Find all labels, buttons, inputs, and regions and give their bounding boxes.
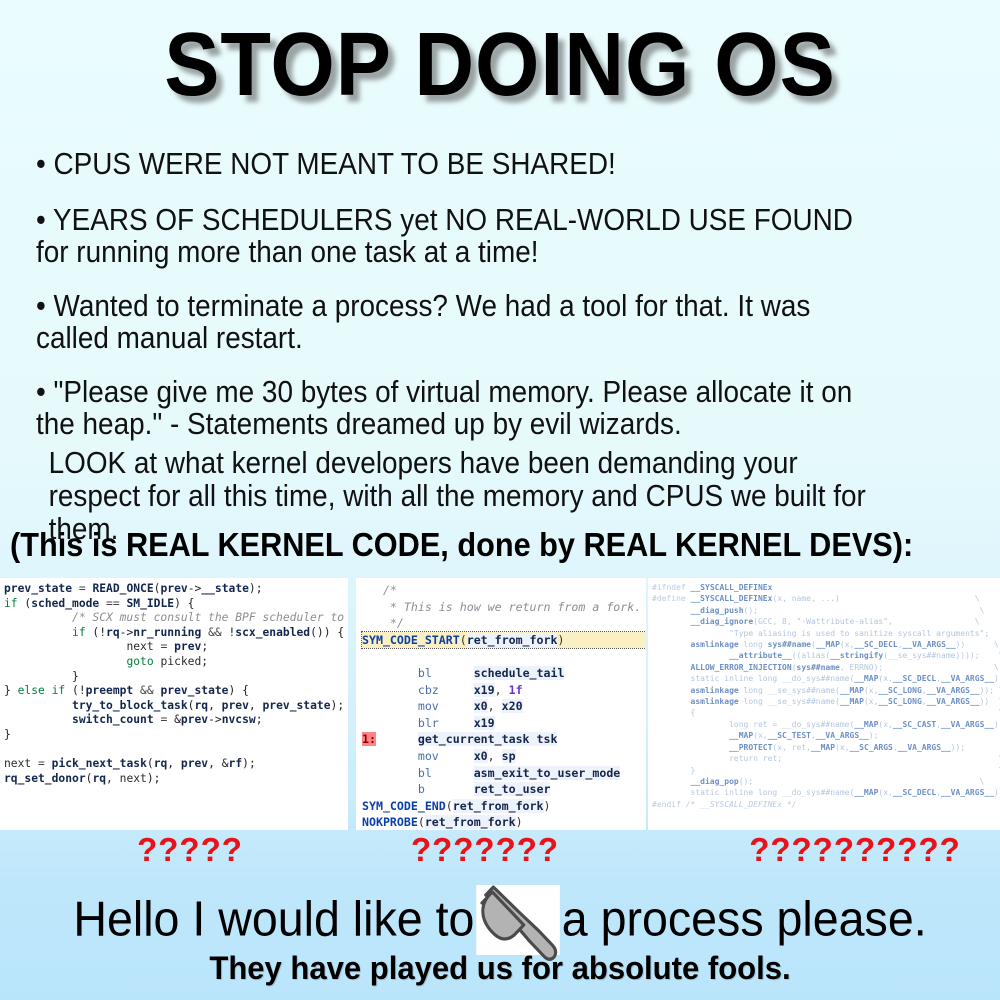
meme-canvas: STOP DOING OS • CPUS WERE NOT MEANT TO B… xyxy=(0,0,1000,1000)
real-kernel-code-caption: (This is REAL KERNEL CODE, done by REAL … xyxy=(10,528,931,561)
bullet-item-3: • Wanted to terminate a process? We had … xyxy=(36,290,882,354)
code-panel-strip: prev_state = READ_ONCE(prev->__state); i… xyxy=(0,578,1000,830)
code-panel-2-content: /* * This is how we return from a fork. … xyxy=(362,582,646,830)
question-marks-row: ????? ??????? ?????????? xyxy=(0,833,1000,873)
bullet-list: • CPUS WERE NOT MEANT TO BE SHARED! • YE… xyxy=(36,148,976,551)
fork-icon xyxy=(476,885,560,955)
code-panel-3-content: #ifndef __SYSCALL_DEFINEx #define __SYSC… xyxy=(652,582,1000,810)
page-title: STOP DOING OS xyxy=(40,20,960,110)
code-panel-c-scheduler: prev_state = READ_ONCE(prev->__state); i… xyxy=(0,578,348,830)
question-marks-middle: ??????? xyxy=(395,833,575,866)
question-marks-left: ????? xyxy=(100,833,280,866)
code-panel-1-content: prev_state = READ_ONCE(prev->__state); i… xyxy=(4,582,348,786)
bullet-item-2: • YEARS OF SCHEDULERS yet NO REAL-WORLD … xyxy=(36,204,882,268)
punchline-after: a process please. xyxy=(562,893,927,947)
footer-text: They have played us for absolute fools. xyxy=(15,952,985,984)
punchline: Hello I would like to a process please. xyxy=(25,885,975,955)
code-panel-arm64-asm: /* * This is how we return from a fork. … xyxy=(356,578,646,830)
bullet-item-1: • CPUS WERE NOT MEANT TO BE SHARED! xyxy=(36,148,882,180)
punchline-before: Hello I would like to xyxy=(73,893,474,947)
code-panel-syscall-macro: #ifndef __SYSCALL_DEFINEx #define __SYSC… xyxy=(648,578,1000,830)
question-marks-right: ?????????? xyxy=(740,833,970,866)
bullet-item-4: • "Please give me 30 bytes of virtual me… xyxy=(36,376,882,440)
